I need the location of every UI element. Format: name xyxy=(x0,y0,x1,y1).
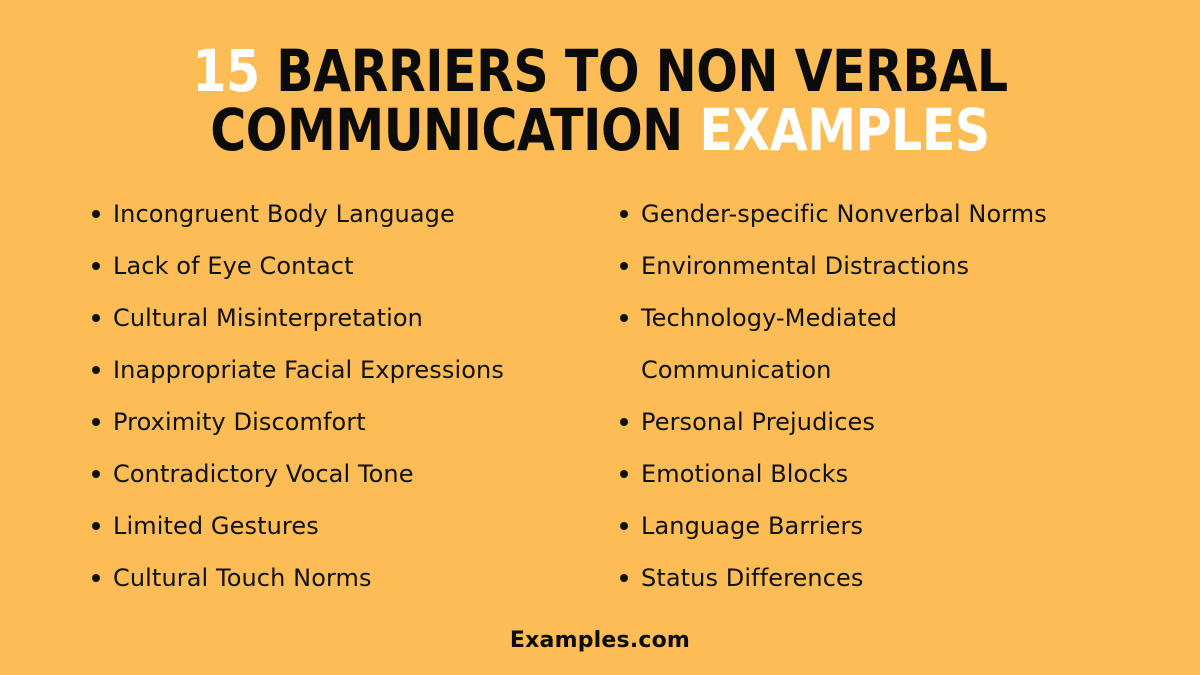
list-item: Language Barriers xyxy=(608,500,1128,552)
list-item: Proximity Discomfort xyxy=(80,396,580,448)
list-item: Lack of Eye Contact xyxy=(80,240,580,292)
list-item: Environmental Distractions xyxy=(608,240,1128,292)
content-columns: Incongruent Body Language Lack of Eye Co… xyxy=(0,188,1200,598)
title-line-1-text: BARRIERS TO NON VERBAL xyxy=(260,37,1008,105)
title-line-2-text: COMMUNICATION xyxy=(210,96,699,164)
left-bullet-list: Incongruent Body Language Lack of Eye Co… xyxy=(80,188,580,604)
list-item: Cultural Touch Norms xyxy=(80,552,580,604)
poster-canvas: 15 BARRIERS TO NON VERBAL COMMUNICATION … xyxy=(0,0,1200,675)
footer-brand: Examples.com xyxy=(0,628,1200,653)
title-count: 15 xyxy=(192,37,259,105)
title-line-1: 15 BARRIERS TO NON VERBAL xyxy=(36,42,1164,101)
list-item: Status Differences xyxy=(608,552,1128,604)
list-item: Emotional Blocks xyxy=(608,448,1128,500)
list-item: Personal Prejudices xyxy=(608,396,1128,448)
list-item: Cultural Misinterpretation xyxy=(80,292,580,344)
right-bullet-list: Gender-specific Nonverbal Norms Environm… xyxy=(608,188,1128,604)
list-item: Contradictory Vocal Tone xyxy=(80,448,580,500)
right-column: Gender-specific Nonverbal Norms Environm… xyxy=(608,188,1128,604)
list-item: Inappropriate Facial Expressions xyxy=(80,344,580,396)
page-title: 15 BARRIERS TO NON VERBAL COMMUNICATION … xyxy=(0,42,1200,160)
list-item: Limited Gestures xyxy=(80,500,580,552)
list-item: Technology-Mediated Communication xyxy=(608,292,1128,396)
title-line-2: COMMUNICATION EXAMPLES xyxy=(36,101,1164,160)
title-examples-word: EXAMPLES xyxy=(699,96,989,164)
list-item: Incongruent Body Language xyxy=(80,188,580,240)
left-column: Incongruent Body Language Lack of Eye Co… xyxy=(80,188,580,604)
list-item: Gender-specific Nonverbal Norms xyxy=(608,188,1128,240)
